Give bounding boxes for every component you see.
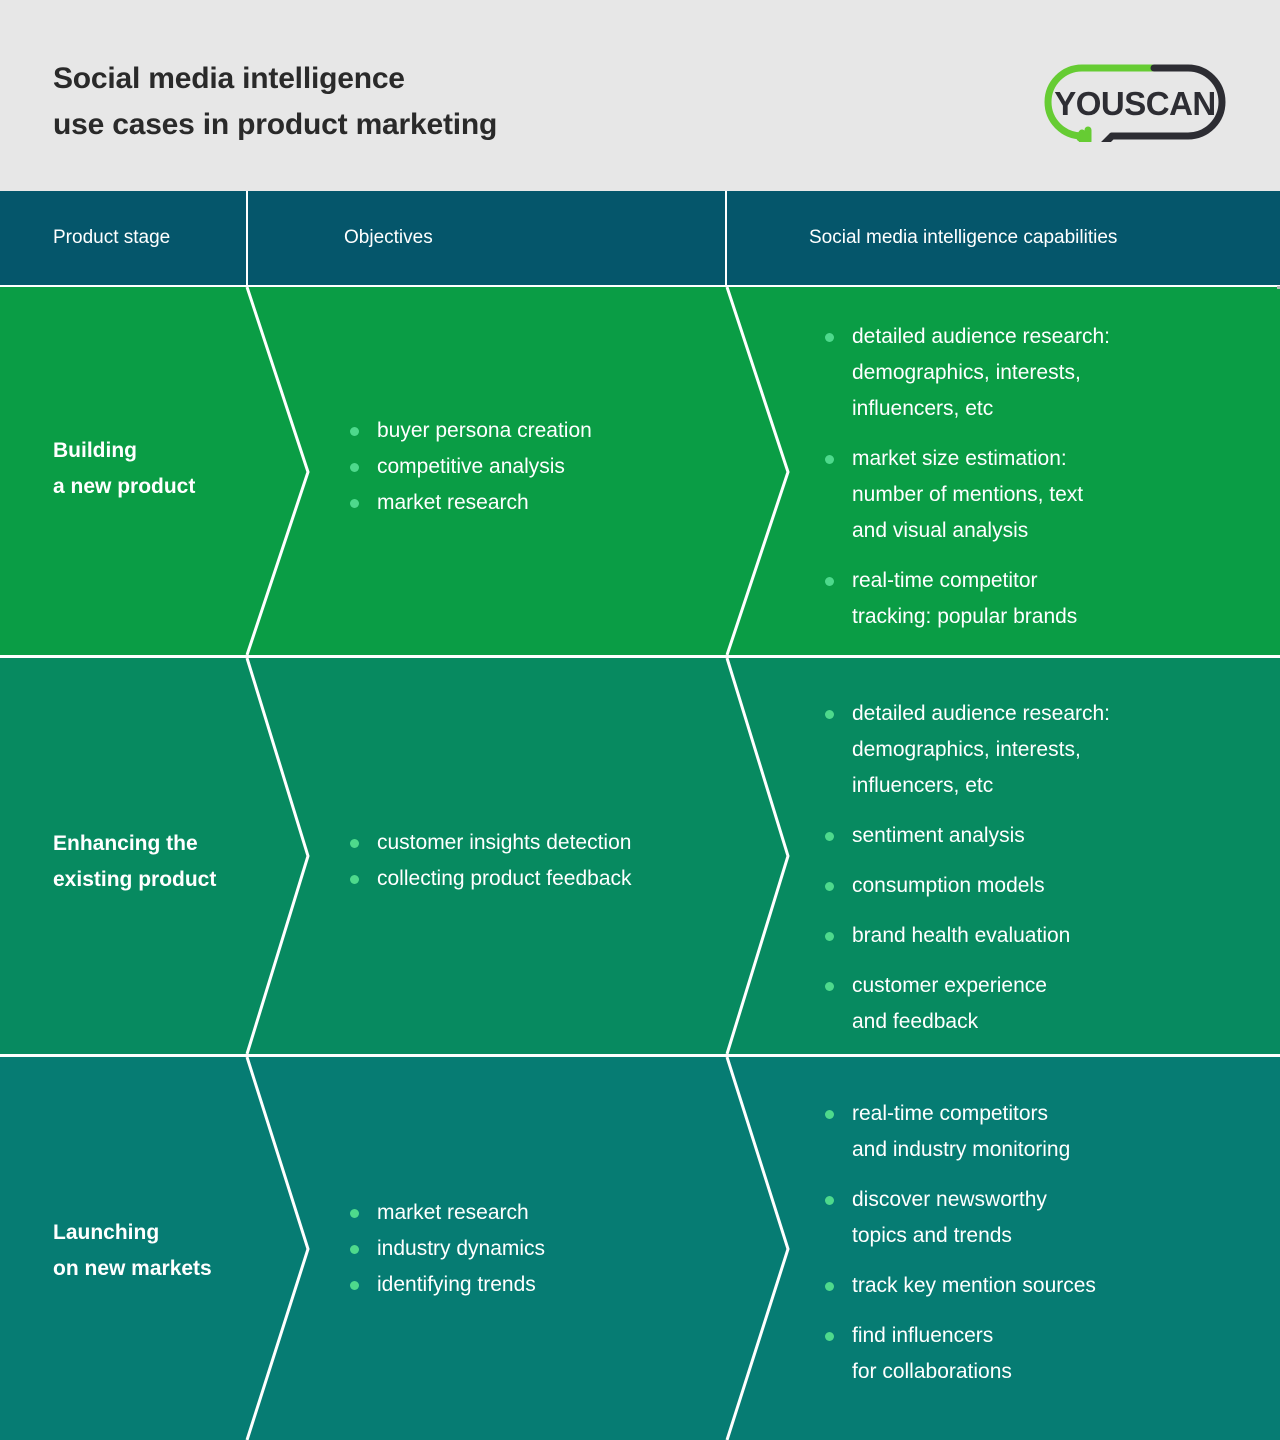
list-item: market research xyxy=(345,485,705,521)
infographic-page: Social media intelligence use cases in p… xyxy=(0,0,1280,1440)
list-item: identifying trends xyxy=(345,1267,705,1303)
column-header-product-stage: Product stage xyxy=(53,191,170,285)
list-item: competitive analysis xyxy=(345,449,705,485)
list-item-label: market size estimation: number of mentio… xyxy=(852,447,1083,542)
bullet-icon xyxy=(350,875,359,884)
bullet-icon xyxy=(825,1196,834,1205)
bullet-icon xyxy=(825,577,834,586)
list-item-label: identifying trends xyxy=(377,1273,536,1296)
list-item-label: detailed audience research: demographics… xyxy=(852,702,1110,797)
row-capabilities-list: detailed audience research: demographics… xyxy=(820,319,1240,635)
row-objectives-list: buyer persona creation competitive analy… xyxy=(345,413,705,521)
list-item: customer experience and feedback xyxy=(820,968,1240,1040)
table-row: Enhancing the existing product customer … xyxy=(0,658,1280,1054)
list-item: sentiment analysis xyxy=(820,818,1240,854)
header-banner: Social media intelligence use cases in p… xyxy=(0,0,1280,191)
bullet-icon xyxy=(350,499,359,508)
list-item: industry dynamics xyxy=(345,1231,705,1267)
list-item-label: industry dynamics xyxy=(377,1237,545,1260)
bullet-icon xyxy=(825,1110,834,1119)
list-item: real-time competitor tracking: popular b… xyxy=(820,563,1240,635)
list-item: detailed audience research: demographics… xyxy=(820,319,1240,427)
list-item-label: real-time competitors and industry monit… xyxy=(852,1102,1070,1161)
list-item-label: consumption models xyxy=(852,874,1045,897)
list-item: discover newsworthy topics and trends xyxy=(820,1182,1240,1254)
list-item: market size estimation: number of mentio… xyxy=(820,441,1240,549)
list-item-label: market research xyxy=(377,1201,529,1224)
table-row: Building a new product buyer persona cre… xyxy=(0,287,1280,655)
list-item-label: collecting product feedback xyxy=(377,867,632,890)
header-divider-1 xyxy=(246,191,248,285)
list-item: market research xyxy=(345,1195,705,1231)
table-row: Launching on new markets market research… xyxy=(0,1057,1280,1440)
row-objectives-list: market research industry dynamics identi… xyxy=(345,1195,705,1303)
bullet-icon xyxy=(825,1282,834,1291)
list-item-label: brand health evaluation xyxy=(852,924,1070,947)
row-stage-label: Enhancing the existing product xyxy=(53,826,243,898)
youscan-logo-text: YOUSCAN xyxy=(1054,85,1216,122)
list-item: real-time competitors and industry monit… xyxy=(820,1096,1240,1168)
list-item-label: sentiment analysis xyxy=(852,824,1025,847)
bullet-icon xyxy=(350,1245,359,1254)
table-header-row: Product stage Objectives Social media in… xyxy=(0,191,1280,285)
list-item-label: detailed audience research: demographics… xyxy=(852,325,1110,420)
list-item: buyer persona creation xyxy=(345,413,705,449)
bullet-icon xyxy=(825,333,834,342)
row-capabilities-list: detailed audience research: demographics… xyxy=(820,696,1240,1040)
bullet-icon xyxy=(825,455,834,464)
list-item-label: buyer persona creation xyxy=(377,419,592,442)
column-header-capabilities: Social media intelligence capabilities xyxy=(809,191,1117,285)
bullet-icon xyxy=(825,882,834,891)
list-item: detailed audience research: demographics… xyxy=(820,696,1240,804)
list-item-label: competitive analysis xyxy=(377,455,565,478)
row-objectives-list: customer insights detection collecting p… xyxy=(345,825,705,897)
bullet-icon xyxy=(825,932,834,941)
bullet-icon xyxy=(350,1209,359,1218)
list-item-label: customer insights detection xyxy=(377,831,631,854)
bullet-icon xyxy=(825,832,834,841)
bullet-icon xyxy=(825,1332,834,1341)
bullet-icon xyxy=(825,710,834,719)
bullet-icon xyxy=(350,1281,359,1290)
list-item: brand health evaluation xyxy=(820,918,1240,954)
page-title: Social media intelligence use cases in p… xyxy=(53,56,497,148)
list-item: track key mention sources xyxy=(820,1268,1240,1304)
list-item-label: discover newsworthy topics and trends xyxy=(852,1188,1047,1247)
bullet-icon xyxy=(350,463,359,472)
list-item: collecting product feedback xyxy=(345,861,705,897)
row-stage-label: Launching on new markets xyxy=(53,1215,243,1287)
youscan-logo: YOUSCAN xyxy=(1042,62,1228,142)
list-item-label: market research xyxy=(377,491,529,514)
list-item: customer insights detection xyxy=(345,825,705,861)
bullet-icon xyxy=(825,982,834,991)
list-item-label: track key mention sources xyxy=(852,1274,1096,1297)
list-item-label: find influencers for collaborations xyxy=(852,1324,1012,1383)
list-item: consumption models xyxy=(820,868,1240,904)
header-divider-2 xyxy=(725,191,727,285)
bullet-icon xyxy=(350,839,359,848)
list-item: find influencers for collaborations xyxy=(820,1318,1240,1390)
list-item-label: customer experience and feedback xyxy=(852,974,1047,1033)
row-capabilities-list: real-time competitors and industry monit… xyxy=(820,1096,1240,1390)
youscan-logo-icon: YOUSCAN xyxy=(1042,62,1228,142)
row-stage-label: Building a new product xyxy=(53,433,243,505)
bullet-icon xyxy=(350,427,359,436)
list-item-label: real-time competitor tracking: popular b… xyxy=(852,569,1077,628)
column-header-objectives: Objectives xyxy=(344,191,433,285)
